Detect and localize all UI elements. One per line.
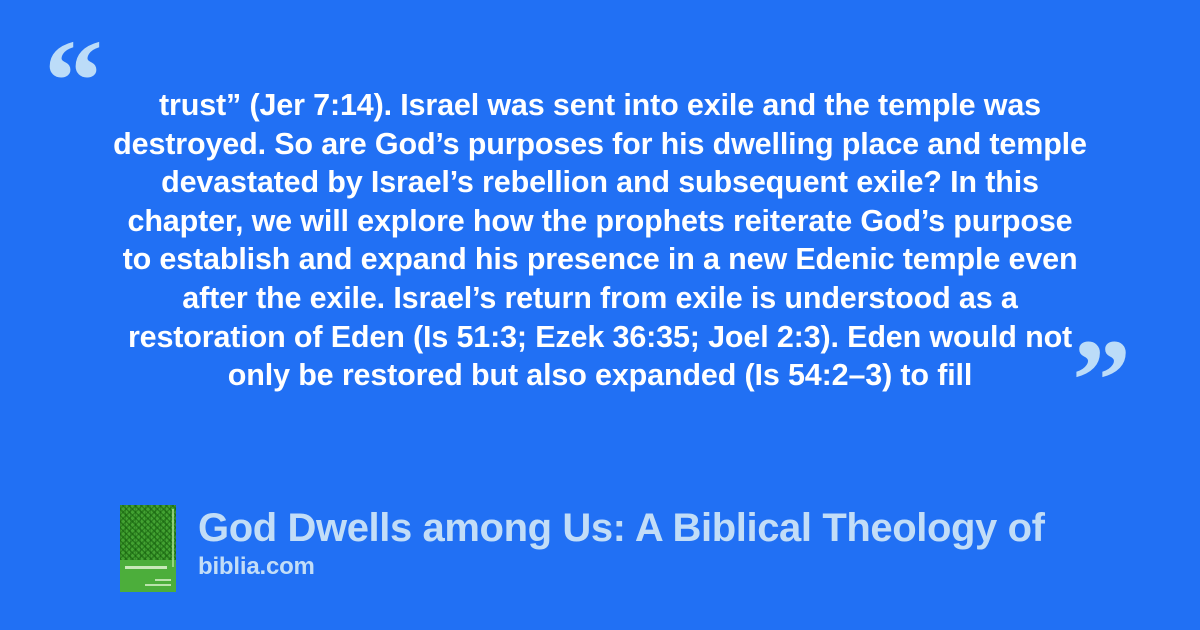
book-title[interactable]: God Dwells among Us: A Biblical Theology… <box>198 505 1045 551</box>
card-footer: God Dwells among Us: A Biblical Theology… <box>120 505 1045 592</box>
site-name[interactable]: biblia.com <box>198 553 1045 581</box>
cover-author-placeholder-1 <box>155 579 171 582</box>
quote-text: trust” (Jer 7:14). Israel was sent into … <box>112 86 1088 395</box>
book-cover-thumbnail[interactable] <box>120 505 176 592</box>
open-quote-icon: “ <box>44 22 103 140</box>
cover-spine-accent <box>172 509 174 567</box>
close-quote-icon: ” <box>1072 322 1131 440</box>
cover-pattern-texture <box>120 505 176 560</box>
footer-text-group: God Dwells among Us: A Biblical Theology… <box>198 505 1045 581</box>
cover-title-placeholder <box>125 566 167 569</box>
quote-block: “ trust” (Jer 7:14). Israel was sent int… <box>0 0 1200 440</box>
cover-author-placeholder-2 <box>145 584 171 587</box>
quote-share-card: “ trust” (Jer 7:14). Israel was sent int… <box>0 0 1200 630</box>
